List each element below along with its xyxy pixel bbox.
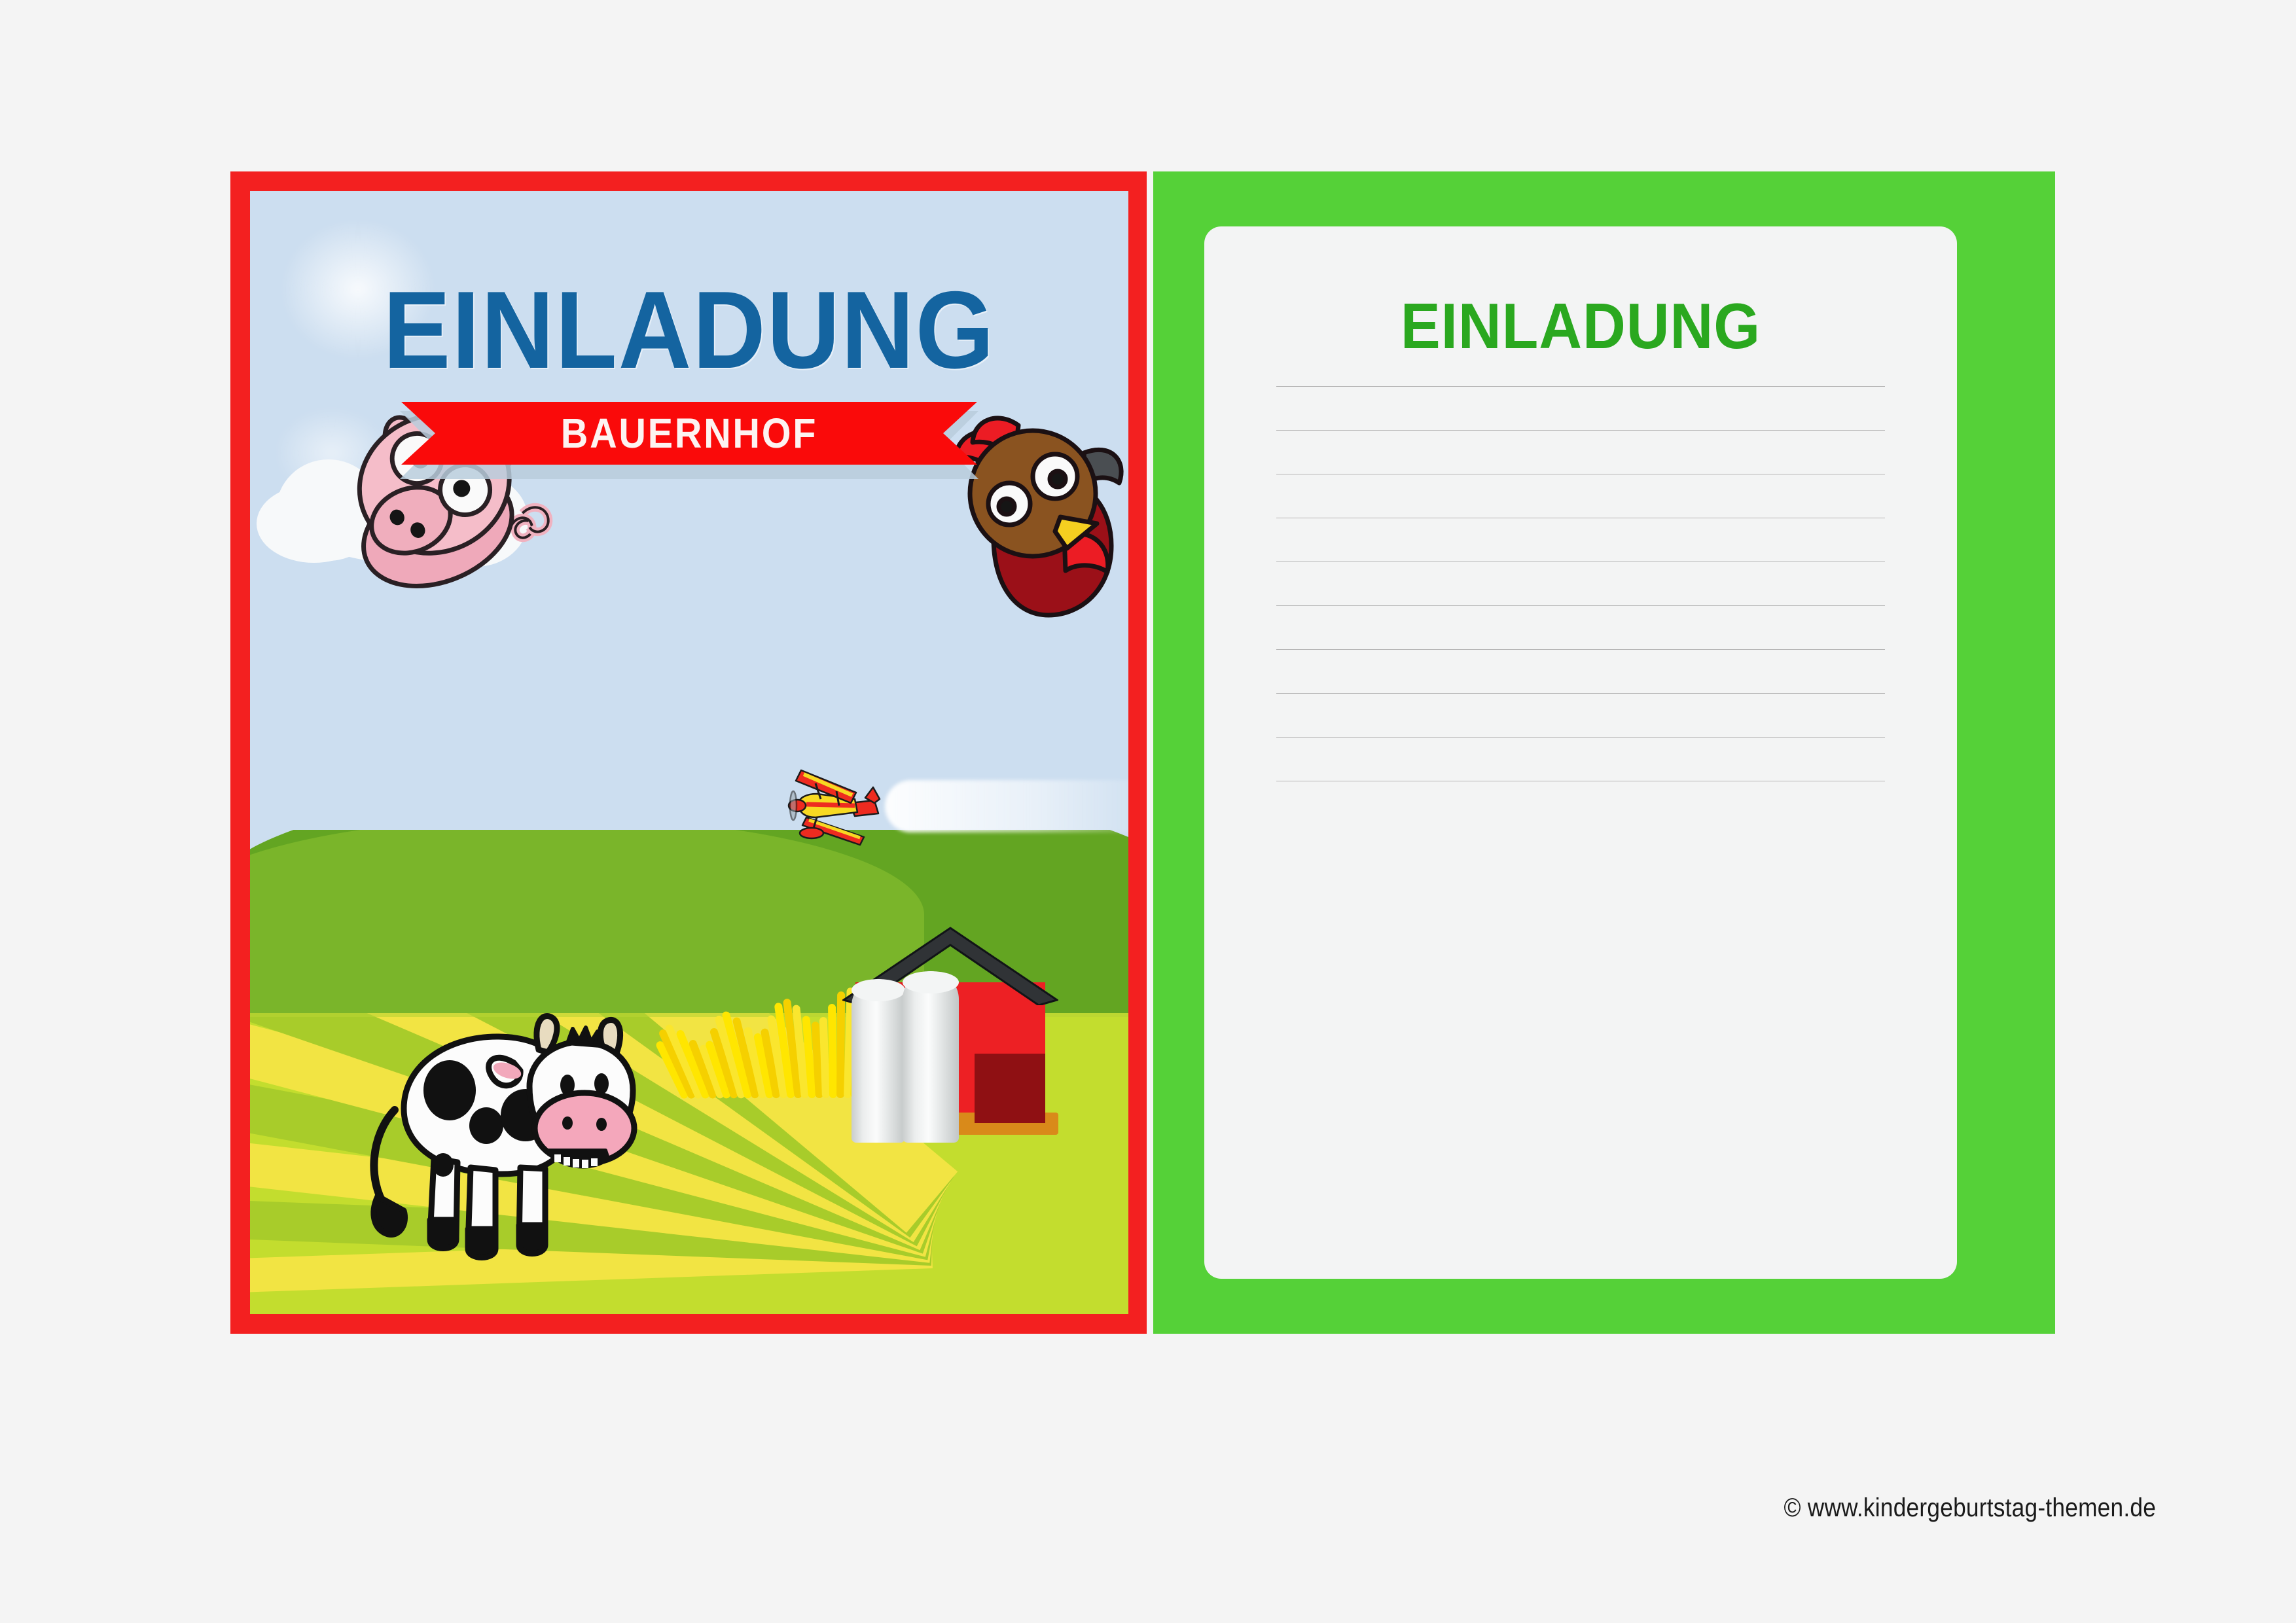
cow-icon (351, 987, 659, 1294)
page-canvas: EINLADUNG BAUERNHOF EINLADUNG © www.kind… (0, 0, 2296, 1623)
note-title: EINLADUNG (1230, 226, 1931, 363)
copyright-footer: © www.kindergeburtstag-themen.de (1784, 1493, 2156, 1523)
writing-line-gap (1276, 694, 1885, 737)
silo-icon (903, 971, 959, 1143)
writing-line[interactable] (1276, 781, 1885, 781)
writing-line-gap (1276, 650, 1885, 693)
invitation-back-panel: EINLADUNG (1153, 171, 2055, 1334)
smoke-trail (885, 780, 1128, 832)
writing-line-gap (1276, 562, 1885, 605)
note-card: EINLADUNG (1204, 226, 1957, 1279)
ribbon-label: BAUERNHOF (561, 409, 817, 457)
silo-icon (852, 979, 905, 1143)
ribbon: BAUERNHOF (401, 402, 977, 465)
page-title: EINLADUNG (285, 275, 1094, 385)
ribbon-banner: BAUERNHOF (250, 402, 1128, 473)
front-title-block: EINLADUNG BAUERNHOF (250, 275, 1128, 473)
writing-line-gap (1276, 387, 1885, 430)
biplane-icon (787, 757, 905, 862)
writing-line-gap (1276, 738, 1885, 781)
writing-line-gap (1276, 606, 1885, 649)
farm-scene: EINLADUNG BAUERNHOF (250, 191, 1128, 1314)
invitation-front-card: EINLADUNG BAUERNHOF (230, 171, 1147, 1334)
barn-door (975, 1054, 1045, 1123)
writing-line-gap (1276, 474, 1885, 518)
writing-lines (1276, 386, 1885, 781)
writing-line-gap (1276, 431, 1885, 474)
writing-line-gap (1276, 518, 1885, 562)
barn-icon (842, 927, 1058, 1123)
wheat-stalk (828, 1004, 837, 1098)
